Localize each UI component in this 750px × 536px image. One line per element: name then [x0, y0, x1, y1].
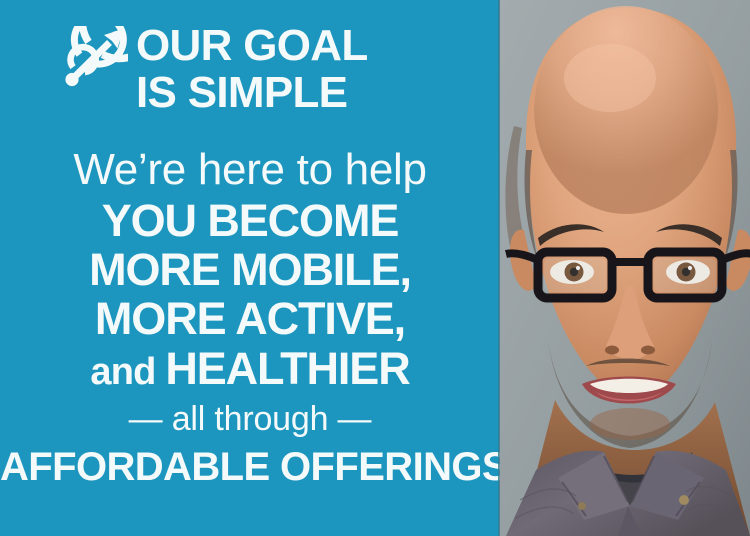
headline-text: OUR GOAL IS SIMPLE — [128, 22, 480, 114]
portrait-scalp — [534, 6, 718, 214]
portrait-nostril-right — [641, 346, 655, 355]
copy-line-mobile: MORE MOBILE, — [0, 246, 500, 293]
portrait-chin-shadow — [590, 408, 670, 440]
target-bullseye-arrow-icon — [28, 26, 128, 130]
headline-line-2: IS SIMPLE — [136, 71, 480, 114]
portrait-collar-button-right — [679, 495, 689, 505]
copy-line-offerings: AFFORDABLE OFFERINGS — [0, 446, 500, 488]
portrait-forehead-highlight — [564, 44, 656, 112]
portrait-lens-left — [544, 258, 606, 292]
copy-line-through: — all through — — [0, 402, 500, 438]
portrait-photo — [500, 0, 750, 536]
copy-panel: OUR GOAL IS SIMPLE We’re here to help YO… — [0, 0, 500, 536]
headline-line-1: OUR GOAL — [136, 24, 480, 67]
copy-line-healthier: and HEALTHIER — [0, 345, 500, 393]
copy-line-intro: We’re here to help — [0, 148, 500, 193]
body-copy: We’re here to help YOU BECOME MORE MOBIL… — [0, 148, 500, 488]
copy-line-healthier-word: HEALTHIER — [165, 343, 409, 394]
copy-line-become: YOU BECOME — [0, 197, 500, 244]
portrait-lens-right — [654, 258, 716, 292]
portrait-panel — [500, 0, 750, 536]
portrait-nostril-left — [605, 346, 619, 355]
copy-line-active: MORE ACTIVE, — [0, 295, 500, 342]
headline-row: OUR GOAL IS SIMPLE — [28, 22, 480, 140]
portrait-collar-button-left — [578, 502, 586, 510]
copy-line-healthier-prefix: and — [90, 351, 165, 393]
promotional-banner: OUR GOAL IS SIMPLE We’re here to help YO… — [0, 0, 750, 536]
